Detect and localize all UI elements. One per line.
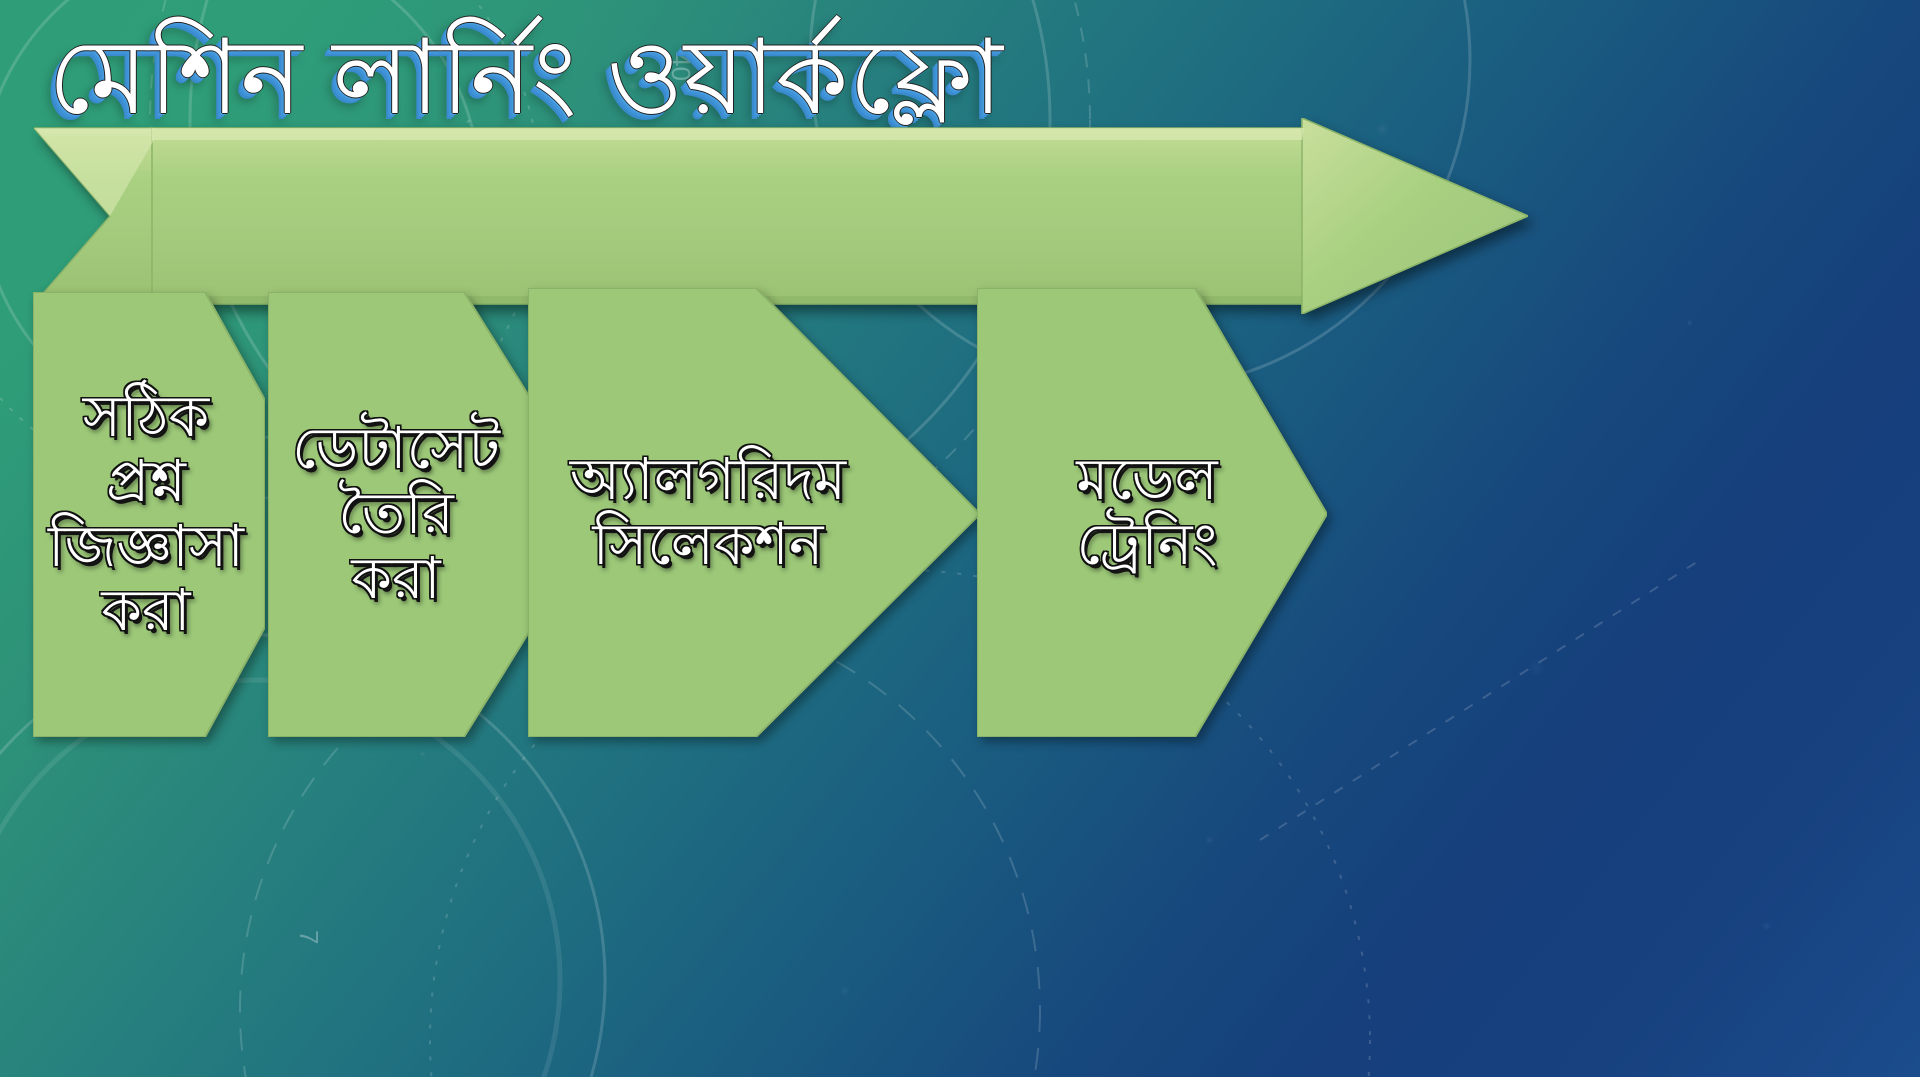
slide-canvas: 40 5 16 180 7 মেশিন লার্নিং ওয়ার্কফ্লো [0,0,1920,1077]
process-arrow [34,118,1528,314]
step-label-2: ডেটাসেট তৈরি করা [268,292,534,737]
svg-text:7: 7 [294,930,324,944]
step-chevron-2[interactable]: ডেটাসেট তৈরি করা [268,292,534,737]
step-label-3: অ্যালগরিদম সিলেকশন [528,288,980,737]
step-chevron-4[interactable]: মডেল ট্রেনিং [977,288,1327,737]
step-chevron-1[interactable]: সঠিক প্রশ্ন জিজ্ঞাসা করা [33,292,265,737]
step-label-1: সঠিক প্রশ্ন জিজ্ঞাসা করা [33,292,265,737]
step-label-4: মডেল ট্রেনিং [977,288,1327,737]
step-chevron-3[interactable]: অ্যালগরিদম সিলেকশন [528,288,980,737]
